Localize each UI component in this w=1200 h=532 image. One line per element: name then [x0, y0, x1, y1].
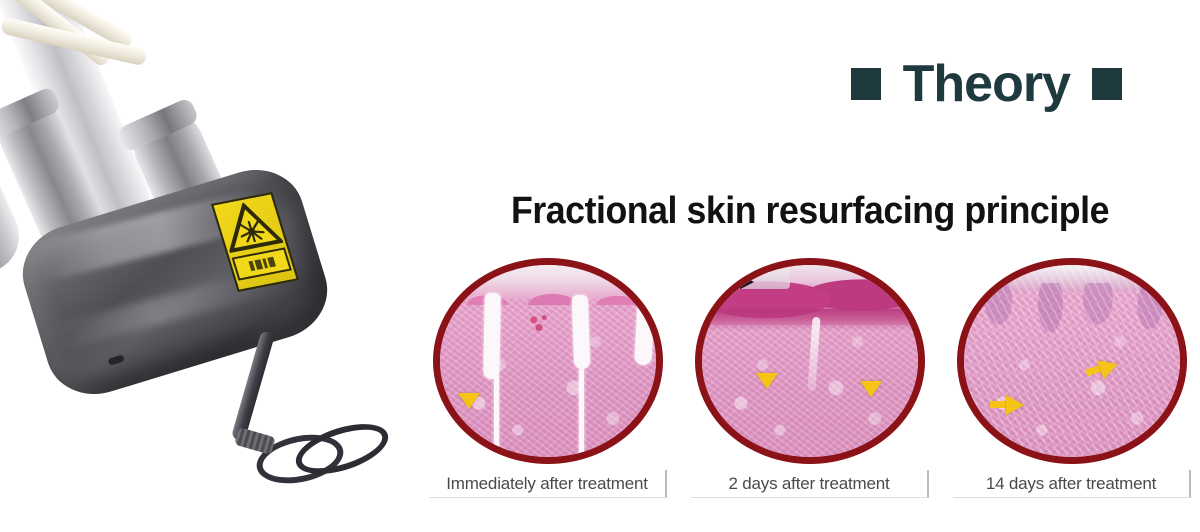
content-area: Theory Fractional skin resurfacing princ… [420, 0, 1200, 532]
ablation-column [634, 299, 654, 366]
micrograph-panel-group: Immediately after treatment [428, 258, 1192, 498]
page-title: Theory [903, 58, 1070, 110]
collagen-fibers [964, 265, 1180, 457]
caption-label: 2 days after treatment [729, 474, 890, 494]
caption-label: Immediately after treatment [446, 474, 648, 494]
micrograph-immediately-after-treatment [433, 258, 663, 464]
tissue-section [702, 265, 918, 457]
surface-crust [720, 269, 790, 289]
panel-two-days-after-treatment: 2 days after treatment [690, 258, 930, 498]
caption-label: 14 days after treatment [986, 474, 1156, 494]
warning-text-bar [232, 247, 292, 280]
tissue-section [440, 265, 656, 457]
caption-box: 14 days after treatment [953, 470, 1191, 498]
warning-glyph [267, 257, 276, 268]
epidermis-edge [702, 309, 918, 331]
yellow-marker-arrow-icon [1006, 395, 1024, 415]
tissue-section [964, 265, 1180, 457]
slide-canvas: Theory Fractional skin resurfacing princ… [0, 0, 1200, 532]
ablation-column [572, 295, 591, 370]
yellow-marker-arrow-icon [756, 373, 778, 389]
epidermis-ridges [440, 277, 656, 305]
square-bullet-left-icon [851, 68, 881, 100]
warning-triangle-icon [216, 198, 283, 254]
capillary-detail [526, 311, 552, 333]
laser-handpiece-photo [0, 0, 430, 532]
panel-fourteen-days-after-treatment: 14 days after treatment [952, 258, 1192, 498]
ablation-column [483, 293, 500, 379]
vent-hole [108, 354, 125, 365]
yellow-marker-arrow-icon [458, 393, 480, 409]
yellow-marker-arrow-icon [860, 381, 882, 397]
caption-box: 2 days after treatment [691, 470, 929, 498]
subtitle: Fractional skin resurfacing principle [443, 190, 1176, 233]
ablation-column-deep [494, 375, 499, 459]
caption-box: Immediately after treatment [429, 470, 667, 498]
micrograph-two-days-after-treatment [695, 258, 925, 464]
square-bullet-right-icon [1092, 68, 1122, 100]
ablation-column-deep [579, 369, 584, 459]
panel-immediately-after-treatment: Immediately after treatment [428, 258, 668, 498]
theory-heading: Theory [851, 58, 1122, 110]
micrograph-fourteen-days-after-treatment [957, 258, 1187, 464]
